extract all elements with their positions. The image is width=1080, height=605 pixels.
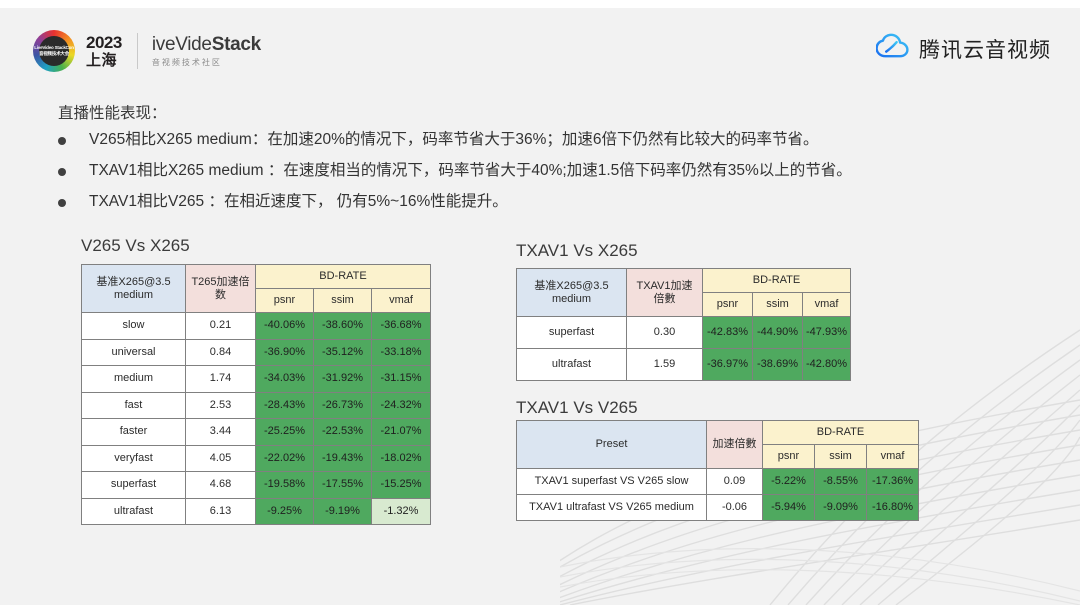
cell-preset: slow: [82, 313, 186, 340]
cell-ssim: -26.73%: [314, 392, 372, 419]
cell-preset: ultrafast: [82, 498, 186, 525]
cell-vmaf: -16.80%: [867, 495, 919, 521]
header-cell-ssim: ssim: [815, 445, 867, 469]
livevideostack-tagline: 音视频技术社区: [152, 59, 261, 67]
conference-year-city: 2023 上海: [86, 34, 122, 68]
cell-ssim: -19.43%: [314, 445, 372, 472]
cell-speedup: 4.05: [186, 445, 256, 472]
cell-vmaf: -1.32%: [372, 498, 431, 525]
table-row: TXAV1 ultrafast VS V265 medium-0.06-5.94…: [517, 495, 919, 521]
cell-psnr: -5.22%: [763, 469, 815, 495]
lvs-name-bold: Stack: [212, 34, 261, 55]
cell-psnr: -22.02%: [256, 445, 314, 472]
cell-speedup: 0.09: [707, 469, 763, 495]
cell-preset: faster: [82, 419, 186, 446]
cell-ssim: -38.60%: [314, 313, 372, 340]
cell-vmaf: -15.25%: [372, 472, 431, 499]
cell-ssim: -38.69%: [753, 349, 803, 381]
table-title-v265-x265: V265 Vs X265: [81, 236, 190, 256]
bullet-list: V265相比X265 medium：在加速20%的情况下，码率节省大于36%；加…: [58, 129, 1058, 222]
cell-psnr: -25.25%: [256, 419, 314, 446]
cell-psnr: -36.97%: [703, 349, 753, 381]
cell-ssim: -9.19%: [314, 498, 372, 525]
header-line-2: medium: [114, 289, 153, 301]
livevideostack-wordmark: iveVideStack 音视频技术社区: [152, 35, 261, 67]
cell-vmaf: -31.15%: [372, 366, 431, 393]
cell-preset: ultrafast: [517, 349, 627, 381]
lvs-ring-label: LiveVideo StackCon 音视频技术大会: [33, 30, 75, 72]
cell-ssim: -9.09%: [815, 495, 867, 521]
table-row: veryfast4.05-22.02%-19.43%-18.02%: [82, 445, 431, 472]
header-cell-psnr: psnr: [703, 293, 753, 317]
cell-preset: fast: [82, 392, 186, 419]
conference-city: 上海: [86, 53, 122, 68]
cell-psnr: -40.06%: [256, 313, 314, 340]
cell-speedup: 0.84: [186, 339, 256, 366]
cell-vmaf: -33.18%: [372, 339, 431, 366]
bullet-text: V265相比X265 medium：在加速20%的情况下，码率节省大于36%；加…: [89, 129, 819, 151]
cell-preset: veryfast: [82, 445, 186, 472]
table-row: TXAV1 superfast VS V265 slow0.09-5.22%-8…: [517, 469, 919, 495]
header-cell-bd-rate: BD-RATE: [703, 269, 851, 293]
header-cell-vmaf: vmaf: [372, 289, 431, 313]
cell-psnr: -19.58%: [256, 472, 314, 499]
cell-vmaf: -18.02%: [372, 445, 431, 472]
table-row: faster3.44-25.25%-22.53%-21.07%: [82, 419, 431, 446]
header-cell-speedup: TXAV1加速倍數: [627, 269, 703, 317]
slide-root: LiveVideo StackCon 音视频技术大会 2023 上海 iveVi…: [0, 0, 1080, 605]
bullet-text: TXAV1相比V265 ：在相近速度下， 仍有5%~16%性能提升。: [89, 191, 508, 213]
conference-year: 2023: [86, 34, 122, 51]
cell-preset: universal: [82, 339, 186, 366]
table-header-row: 基准X265@3.5mediumT265加速倍数BD-RATE: [82, 265, 431, 289]
table-header-row: Preset加速倍數BD-RATE: [517, 421, 919, 445]
cell-speedup: 0.30: [627, 317, 703, 349]
table-title-txav1-x265: TXAV1 Vs X265: [516, 241, 638, 261]
table-txav1-vs-x265: 基准X265@3.5mediumTXAV1加速倍數BD-RATEpsnrssim…: [516, 268, 851, 381]
header-cell-ssim: ssim: [314, 289, 372, 313]
header-cell-vmaf: vmaf: [867, 445, 919, 469]
header-cell-bd-rate: BD-RATE: [256, 265, 431, 289]
section-lead: 直播性能表现：: [58, 101, 167, 123]
header-cell-preset: 基准X265@3.5medium: [517, 269, 627, 317]
list-item: V265相比X265 medium：在加速20%的情况下，码率节省大于36%；加…: [58, 129, 1058, 160]
header-cell-bd-rate: BD-RATE: [763, 421, 919, 445]
header-line-1: 基准X265@3.5: [96, 276, 170, 288]
header-cell-vmaf: vmaf: [803, 293, 851, 317]
lvs-name-light: iveVide: [152, 34, 212, 55]
cell-speedup: -0.06: [707, 495, 763, 521]
table-row: universal0.84-36.90%-35.12%-33.18%: [82, 339, 431, 366]
cell-psnr: -36.90%: [256, 339, 314, 366]
cell-vmaf: -21.07%: [372, 419, 431, 446]
bullet-dot-icon: [58, 168, 66, 176]
cell-vmaf: -24.32%: [372, 392, 431, 419]
cell-speedup: 4.68: [186, 472, 256, 499]
cell-preset: superfast: [82, 472, 186, 499]
cell-ssim: -17.55%: [314, 472, 372, 499]
table-row: medium1.74-34.03%-31.92%-31.15%: [82, 366, 431, 393]
cell-ssim: -8.55%: [815, 469, 867, 495]
cell-ssim: -31.92%: [314, 366, 372, 393]
list-item: TXAV1相比V265 ：在相近速度下， 仍有5%~16%性能提升。: [58, 191, 1058, 222]
header-cell-psnr: psnr: [763, 445, 815, 469]
header-cell-speedup: T265加速倍数: [186, 265, 256, 313]
list-item: TXAV1相比X265 medium ：在速度相当的情况下，码率节省大于40%;…: [58, 160, 1058, 191]
tencent-cloud-logo: 腾讯云音视频: [876, 33, 1051, 64]
cell-speedup: 3.44: [186, 419, 256, 446]
bullet-text: TXAV1相比X265 medium ：在速度相当的情况下，码率节省大于40%;…: [89, 160, 852, 182]
table-row: superfast4.68-19.58%-17.55%-15.25%: [82, 472, 431, 499]
header-cell-speedup: 加速倍數: [707, 421, 763, 469]
header-line-1: 基准X265@3.5: [534, 280, 608, 292]
cell-psnr: -28.43%: [256, 392, 314, 419]
cell-speedup: 6.13: [186, 498, 256, 525]
table-header-row: 基准X265@3.5mediumTXAV1加速倍數BD-RATE: [517, 269, 851, 293]
table-row: ultrafast6.13-9.25%-9.19%-1.32%: [82, 498, 431, 525]
bullet-dot-icon: [58, 137, 66, 145]
logo-divider: [137, 33, 138, 69]
cell-speedup: 0.21: [186, 313, 256, 340]
table-row: superfast0.30-42.83%-44.90%-47.93%: [517, 317, 851, 349]
cell-preset: TXAV1 superfast VS V265 slow: [517, 469, 707, 495]
table-row: slow0.21-40.06%-38.60%-36.68%: [82, 313, 431, 340]
table-title-txav1-v265: TXAV1 Vs V265: [516, 398, 638, 418]
cell-preset: superfast: [517, 317, 627, 349]
table-row: fast2.53-28.43%-26.73%-24.32%: [82, 392, 431, 419]
livevideostack-name: iveVideStack: [152, 35, 261, 54]
cell-psnr: -5.94%: [763, 495, 815, 521]
cell-speedup: 1.74: [186, 366, 256, 393]
tencent-cloud-icon: [876, 33, 910, 64]
cell-preset: medium: [82, 366, 186, 393]
cell-ssim: -35.12%: [314, 339, 372, 366]
cell-psnr: -9.25%: [256, 498, 314, 525]
cell-vmaf: -36.68%: [372, 313, 431, 340]
tencent-cloud-label: 腾讯云音视频: [919, 34, 1051, 64]
header-cell-psnr: psnr: [256, 289, 314, 313]
bullet-dot-icon: [58, 199, 66, 207]
top-white-band: [0, 0, 1080, 8]
cell-ssim: -22.53%: [314, 419, 372, 446]
table-row: ultrafast1.59-36.97%-38.69%-42.80%: [517, 349, 851, 381]
table-v265-vs-x265: 基准X265@3.5mediumT265加速倍数BD-RATEpsnrssimv…: [81, 264, 431, 525]
header-cell-preset: 基准X265@3.5medium: [82, 265, 186, 313]
cell-speedup: 1.59: [627, 349, 703, 381]
cell-vmaf: -47.93%: [803, 317, 851, 349]
livevideostack-logo: LiveVideo StackCon 音视频技术大会 2023 上海 iveVi…: [33, 29, 261, 73]
cell-psnr: -42.83%: [703, 317, 753, 349]
cell-vmaf: -42.80%: [803, 349, 851, 381]
cell-vmaf: -17.36%: [867, 469, 919, 495]
cell-speedup: 2.53: [186, 392, 256, 419]
header-cell-preset: Preset: [517, 421, 707, 469]
cell-psnr: -34.03%: [256, 366, 314, 393]
table-txav1-vs-v265: Preset加速倍數BD-RATEpsnrssimvmafTXAV1 super…: [516, 420, 919, 521]
cell-preset: TXAV1 ultrafast VS V265 medium: [517, 495, 707, 521]
cell-ssim: -44.90%: [753, 317, 803, 349]
lvs-ring-icon: LiveVideo StackCon 音视频技术大会: [33, 30, 75, 72]
header-cell-ssim: ssim: [753, 293, 803, 317]
header-line-2: medium: [552, 293, 591, 305]
